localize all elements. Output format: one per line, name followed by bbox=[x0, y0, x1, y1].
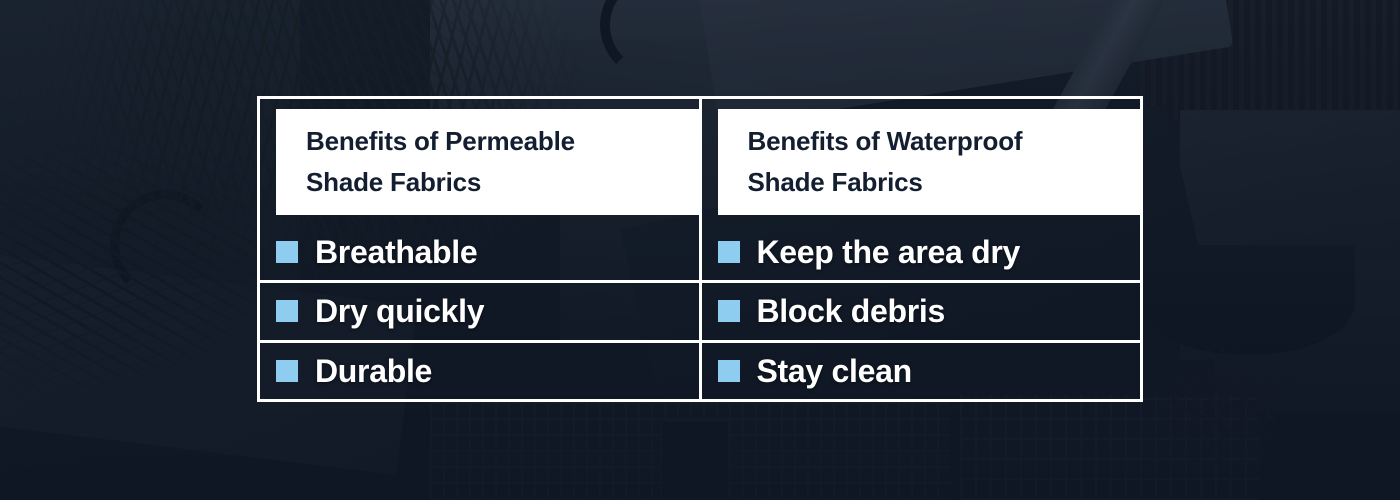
column-waterproof-heading-box: Benefits of Waterproof Shade Fabrics bbox=[718, 109, 1141, 215]
infographic-canvas: Benefits of Permeable Shade Fabrics Brea… bbox=[0, 0, 1400, 500]
column-permeable-heading-line-2: Shade Fabrics bbox=[306, 162, 677, 203]
column-waterproof: Benefits of Waterproof Shade Fabrics Kee… bbox=[702, 99, 1141, 399]
column-permeable: Benefits of Permeable Shade Fabrics Brea… bbox=[260, 99, 702, 399]
list-item-label: Dry quickly bbox=[315, 295, 484, 327]
list-item-label: Durable bbox=[315, 355, 432, 387]
square-bullet-icon bbox=[276, 300, 298, 322]
list-item: Breathable bbox=[260, 224, 699, 280]
column-permeable-heading-box: Benefits of Permeable Shade Fabrics bbox=[276, 109, 699, 215]
list-item: Dry quickly bbox=[260, 280, 699, 339]
list-item: Durable bbox=[260, 340, 699, 399]
column-waterproof-heading-line-1: Benefits of Waterproof bbox=[748, 121, 1119, 162]
list-item: Stay clean bbox=[702, 340, 1141, 399]
column-waterproof-header: Benefits of Waterproof Shade Fabrics bbox=[702, 99, 1141, 224]
benefits-comparison-table: Benefits of Permeable Shade Fabrics Brea… bbox=[257, 96, 1143, 402]
column-permeable-list: Breathable Dry quickly Durable bbox=[260, 224, 699, 399]
column-permeable-heading-line-1: Benefits of Permeable bbox=[306, 121, 677, 162]
column-waterproof-list: Keep the area dry Block debris Stay clea… bbox=[702, 224, 1141, 399]
column-permeable-header: Benefits of Permeable Shade Fabrics bbox=[260, 99, 699, 224]
list-item: Keep the area dry bbox=[702, 224, 1141, 280]
square-bullet-icon bbox=[718, 300, 740, 322]
list-item-label: Breathable bbox=[315, 236, 477, 268]
column-waterproof-heading-line-2: Shade Fabrics bbox=[748, 162, 1119, 203]
list-item-label: Keep the area dry bbox=[757, 236, 1020, 268]
square-bullet-icon bbox=[718, 241, 740, 263]
square-bullet-icon bbox=[276, 360, 298, 382]
square-bullet-icon bbox=[276, 241, 298, 263]
list-item: Block debris bbox=[702, 280, 1141, 339]
list-item-label: Stay clean bbox=[757, 355, 912, 387]
list-item-label: Block debris bbox=[757, 295, 945, 327]
square-bullet-icon bbox=[718, 360, 740, 382]
